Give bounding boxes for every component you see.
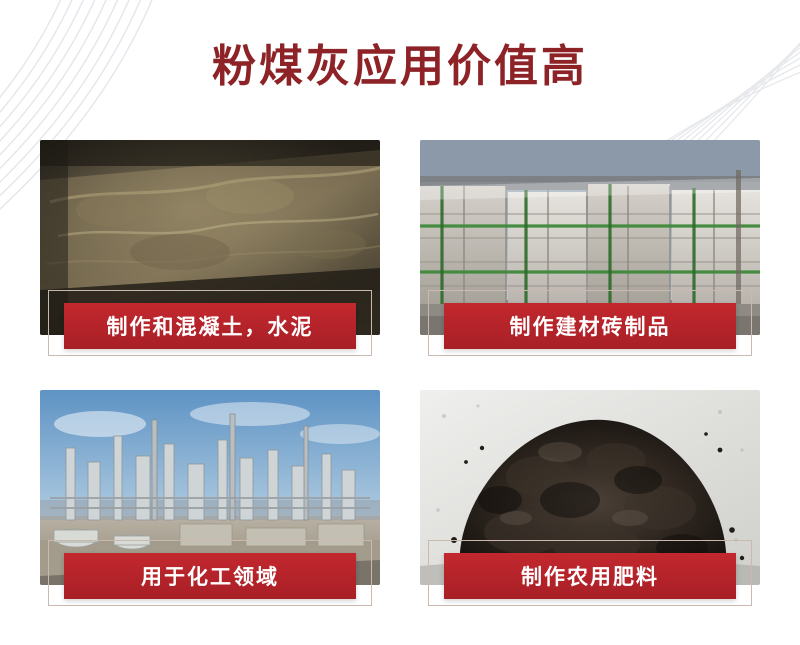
card-label: 制作和混凝土，水泥 [64, 303, 356, 349]
card-chemical-industry[interactable]: 用于化工领域 [40, 390, 380, 615]
poster-container: 粉煤灰应用价值高 [0, 0, 800, 645]
card-label: 制作建材砖制品 [444, 303, 736, 349]
card-agricultural-fertilizer[interactable]: 制作农用肥料 [420, 390, 760, 615]
card-building-bricks[interactable]: 制作建材砖制品 [420, 140, 760, 365]
card-label: 制作农用肥料 [444, 553, 736, 599]
card-label: 用于化工领域 [64, 553, 356, 599]
cards-grid: 制作和混凝土，水泥 [40, 140, 760, 630]
card-concrete-cement[interactable]: 制作和混凝土，水泥 [40, 140, 380, 365]
page-title: 粉煤灰应用价值高 [0, 30, 800, 94]
